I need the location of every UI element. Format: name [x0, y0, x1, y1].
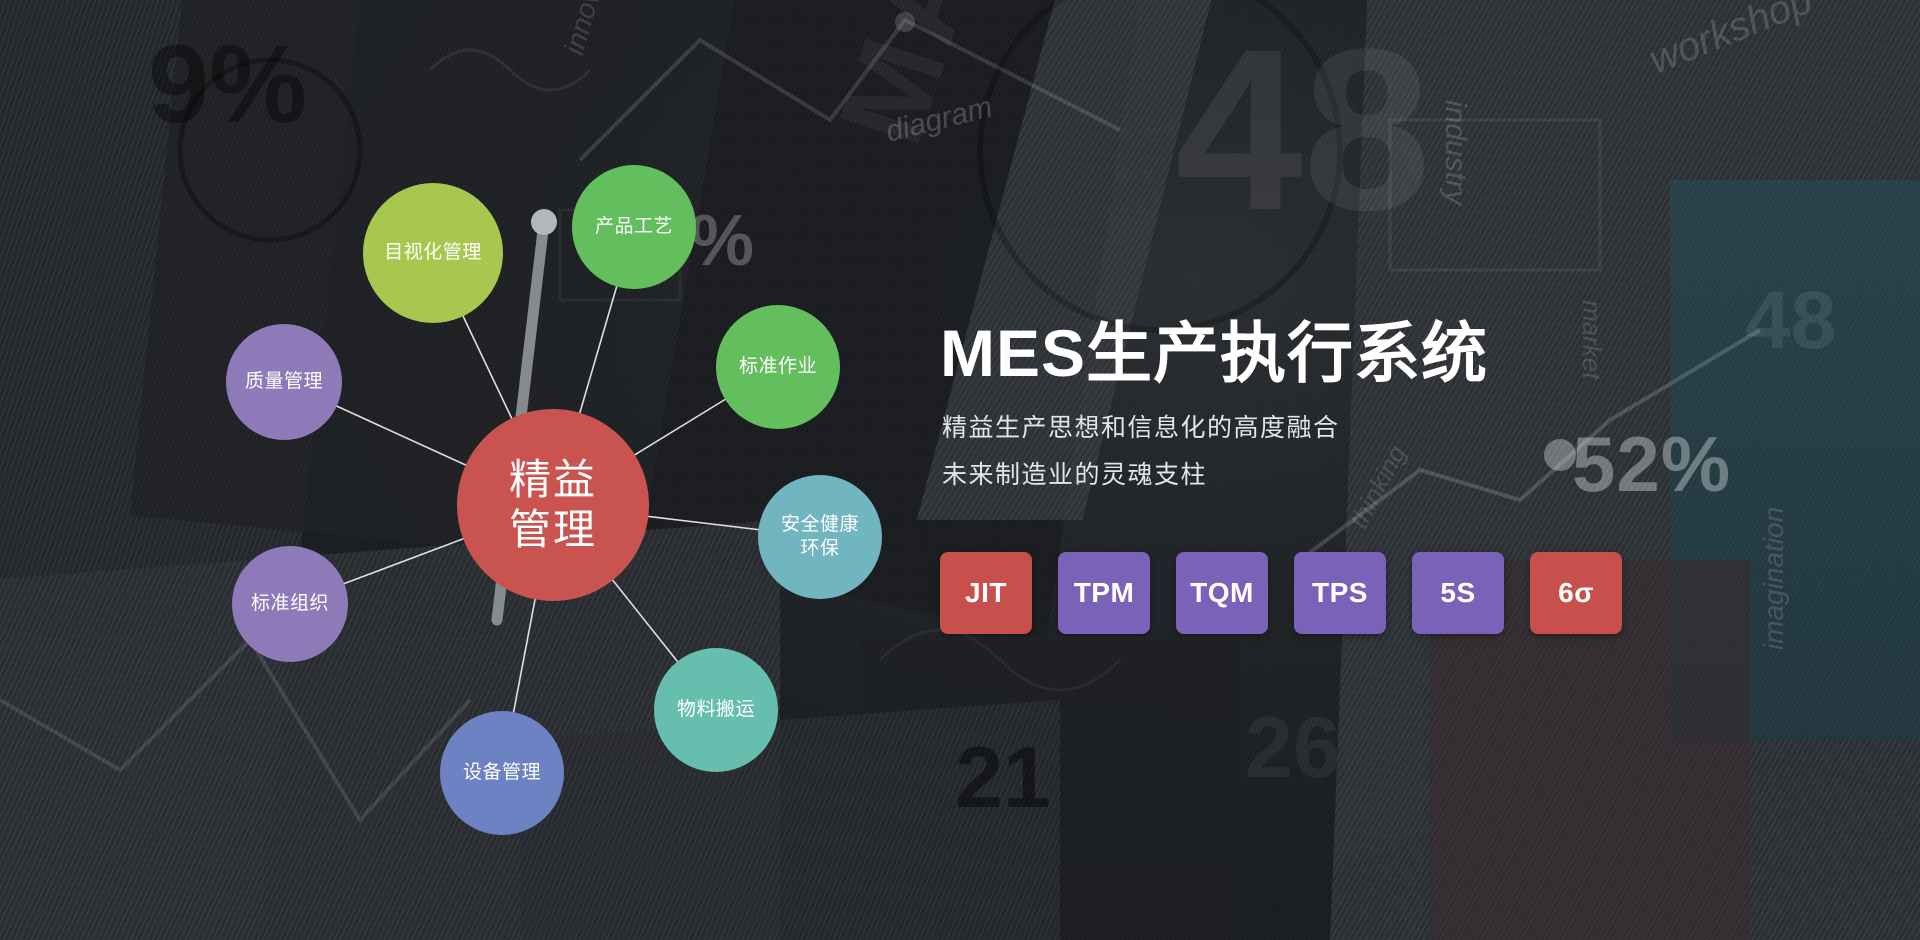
- node-label: 设备管理: [463, 761, 541, 785]
- node-label-line-2: 管理: [509, 506, 597, 553]
- tag-5s-button[interactable]: 5S: [1412, 552, 1504, 634]
- diagram-connector: [646, 516, 760, 530]
- tag-label: 6σ: [1558, 577, 1594, 609]
- diagram-connector: [633, 398, 727, 455]
- diagram-node-visual-management[interactable]: 目视化管理: [363, 183, 503, 323]
- node-label: 物料搬运: [677, 698, 755, 722]
- tag-label: JIT: [965, 577, 1007, 609]
- diagram-node-material-handling[interactable]: 物料搬运: [654, 648, 778, 772]
- diagram-pin-head-icon: [531, 209, 557, 235]
- page-title: MES生产执行系统: [940, 300, 1488, 396]
- diagram-node-safety-health-environment[interactable]: 安全健康环保: [758, 475, 882, 599]
- subtitle-line-1: 精益生产思想和信息化的高度融合: [942, 408, 1340, 444]
- node-label: 标准组织: [251, 592, 329, 616]
- node-label: 精益管理: [509, 455, 597, 554]
- node-label-line-1: 安全健康: [781, 514, 859, 535]
- tag-label: TPM: [1074, 577, 1135, 609]
- node-label: 安全健康环保: [781, 513, 859, 561]
- tag-label: TPS: [1312, 577, 1368, 609]
- methodology-tag-list: JITTPMTQMTPS5S6σ: [940, 552, 1622, 634]
- node-label: 目视化管理: [384, 241, 482, 265]
- node-label: 质量管理: [245, 370, 323, 394]
- tag-tps-button[interactable]: TPS: [1294, 552, 1386, 634]
- tag-tqm-button[interactable]: TQM: [1176, 552, 1268, 634]
- diagram-connector: [462, 314, 512, 420]
- diagram-connector: [579, 285, 617, 415]
- diagram-node-equipment-management[interactable]: 设备管理: [440, 711, 564, 835]
- diagram-node-quality-management[interactable]: 质量管理: [226, 324, 342, 440]
- tag-tpm-button[interactable]: TPM: [1058, 552, 1150, 634]
- banner-content: MES生产执行系统 精益生产思想和信息化的高度融合 未来制造业的灵魂支柱 JIT…: [940, 0, 1920, 940]
- node-label-line-2: 环保: [800, 538, 839, 559]
- node-label: 产品工艺: [595, 215, 673, 239]
- tag-label: 5S: [1440, 577, 1475, 609]
- subtitle-line-2: 未来制造业的灵魂支柱: [942, 455, 1207, 491]
- lean-management-mindmap: 目视化管理产品工艺标准作业质量管理标准组织安全健康环保物料搬运设备管理精益管理: [0, 0, 960, 940]
- tag-jit-button[interactable]: JIT: [940, 552, 1032, 634]
- tag-label: TQM: [1190, 577, 1254, 609]
- diagram-node-standard-operation[interactable]: 标准作业: [716, 305, 840, 429]
- diagram-node-product-process[interactable]: 产品工艺: [572, 165, 696, 289]
- diagram-connector: [513, 597, 535, 714]
- diagram-node-standard-organization[interactable]: 标准组织: [232, 546, 348, 662]
- diagram-connector: [342, 538, 465, 584]
- banner-stage: 9%484852%2126%MANUworkshopdiagraminnovat…: [0, 0, 1920, 940]
- node-label: 标准作业: [739, 355, 817, 379]
- diagram-node-center-lean-management[interactable]: 精益管理: [457, 409, 649, 601]
- node-label-line-1: 精益: [509, 456, 597, 503]
- diagram-connector: [612, 579, 679, 663]
- tag-6-button[interactable]: 6σ: [1530, 552, 1622, 634]
- diagram-connector: [335, 405, 468, 466]
